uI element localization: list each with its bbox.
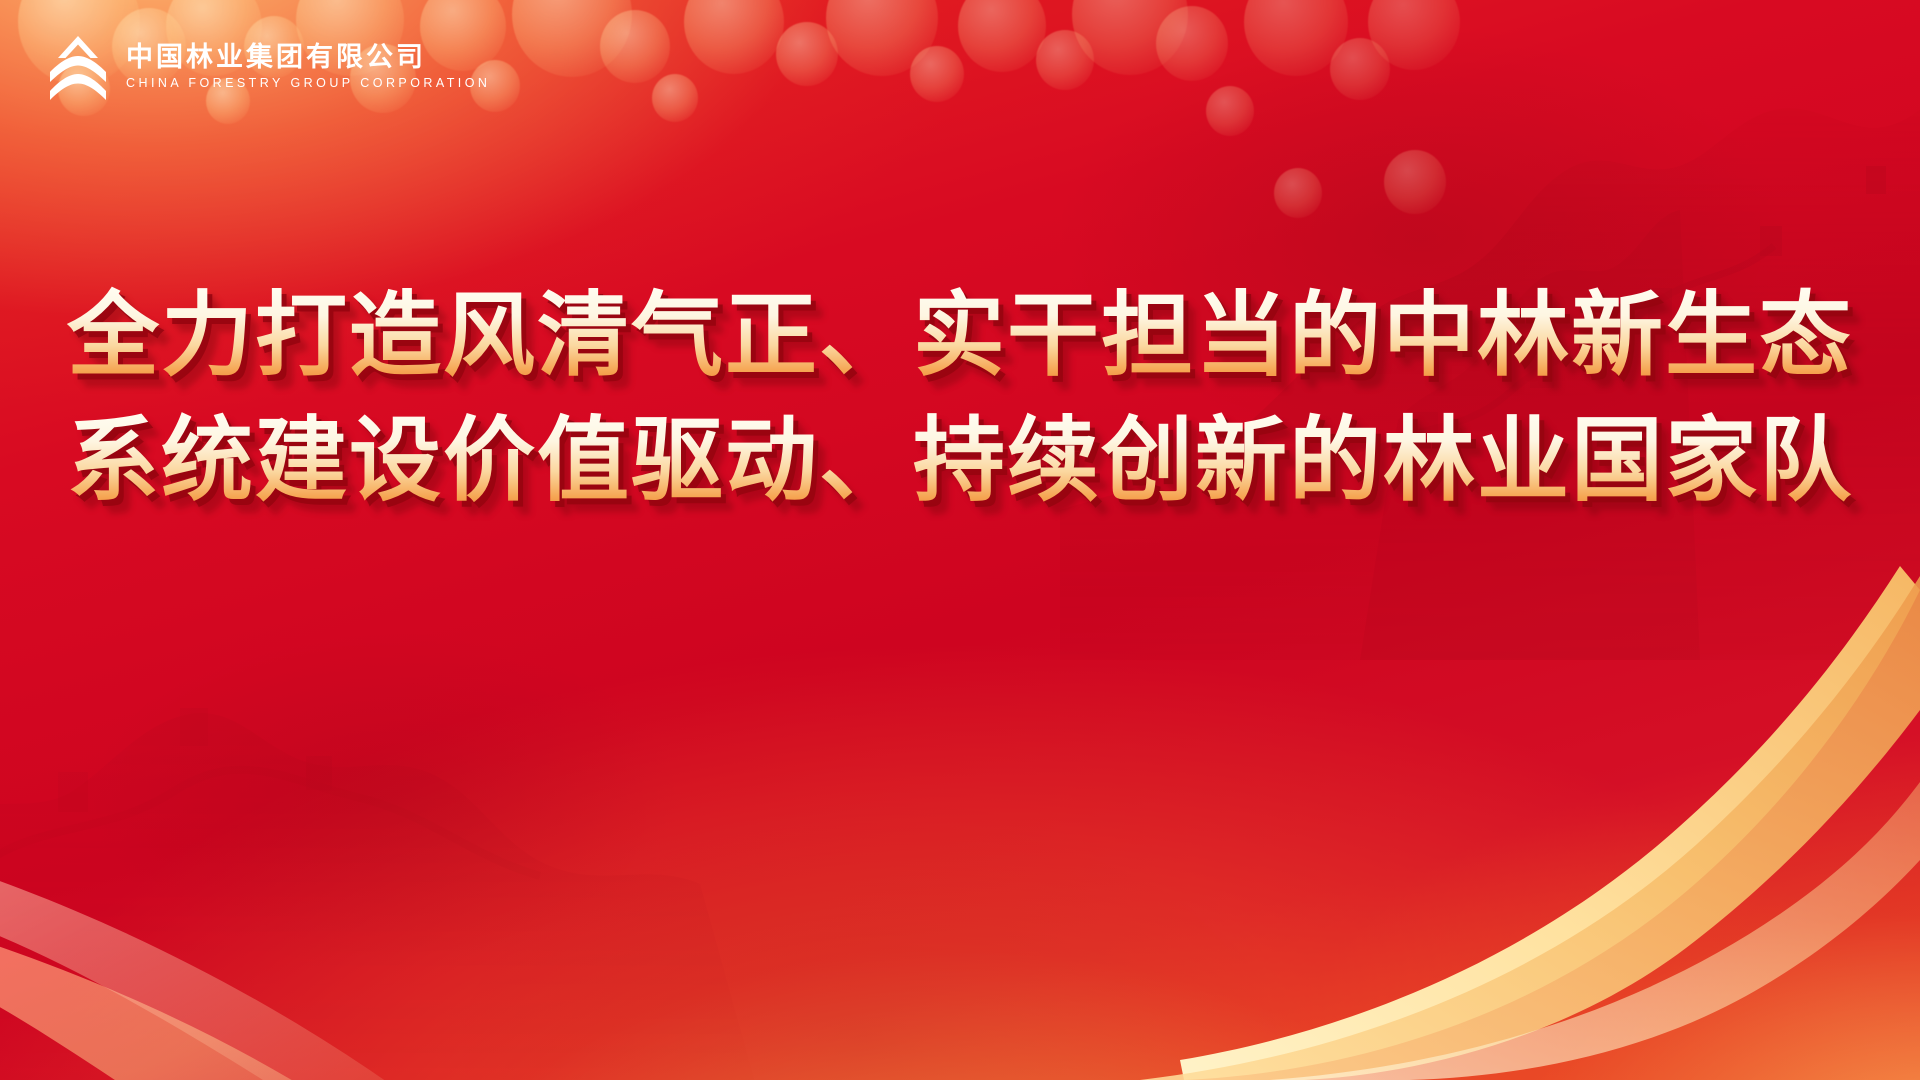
poster-canvas: 中国林业集团有限公司 CHINA FORESTRY GROUP CORPORAT… <box>0 0 1920 1080</box>
bokeh-light <box>512 0 632 77</box>
bokeh-light <box>776 22 838 86</box>
bokeh-light <box>1330 38 1390 100</box>
headline-line-1: 全力打造风清气正、实干担当的中林新生态 <box>67 286 1853 385</box>
china-forestry-group-tree-icon <box>46 34 110 100</box>
bokeh-light <box>1036 30 1094 90</box>
bokeh-light <box>958 0 1046 72</box>
brand-logo-lockup: 中国林业集团有限公司 CHINA FORESTRY GROUP CORPORAT… <box>46 34 490 100</box>
gold-ribbon-swoosh-right <box>840 560 1920 1080</box>
bokeh-light <box>600 10 670 83</box>
bokeh-light <box>684 0 784 74</box>
great-wall-mountain-texture-bottom-left <box>0 670 1040 1080</box>
bokeh-light <box>826 0 938 76</box>
bokeh-light <box>1206 86 1254 136</box>
brand-name-en: CHINA FORESTRY GROUP CORPORATION <box>126 77 490 90</box>
bokeh-light <box>1072 0 1188 75</box>
bokeh-light <box>910 46 964 102</box>
bokeh-light <box>652 74 698 122</box>
bokeh-light <box>1156 6 1228 81</box>
headline-block: 全力打造风清气正、实干担当的中林新生态 系统建设价值驱动、持续创新的林业国家队 <box>0 286 1920 511</box>
bokeh-light <box>1384 150 1446 214</box>
bokeh-light <box>1244 0 1348 76</box>
background-wash-overlay <box>0 0 1920 1080</box>
headline-line-2: 系统建设价值驱动、持续创新的林业国家队 <box>67 411 1853 510</box>
gold-ribbon-swoosh-left <box>0 780 740 1080</box>
bokeh-light <box>1368 0 1460 70</box>
brand-name-cn: 中国林业集团有限公司 <box>126 44 490 71</box>
bokeh-light <box>1274 168 1322 218</box>
